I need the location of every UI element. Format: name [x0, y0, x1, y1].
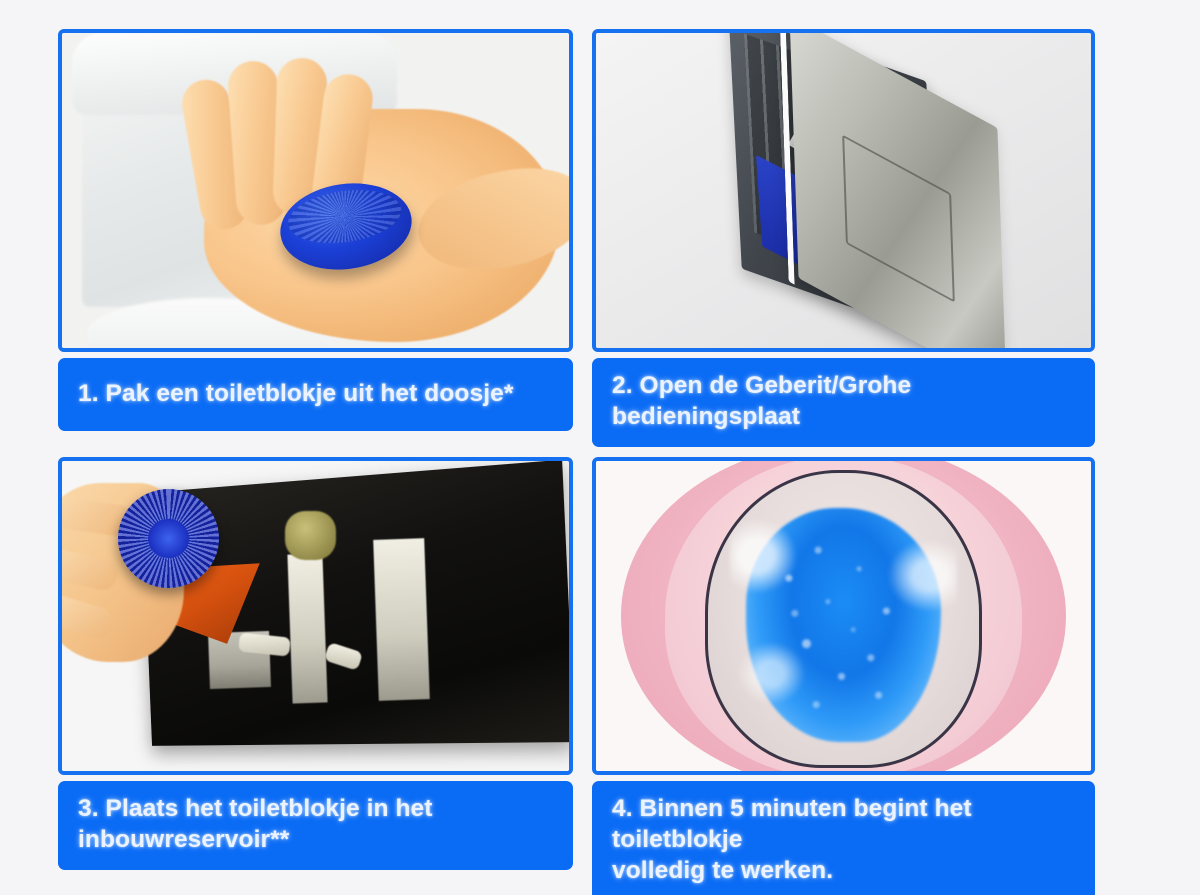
step-card-3[interactable]: 3. Plaats het toiletblokje in het inbouw… — [58, 457, 573, 855]
brass-valve-shape — [285, 511, 336, 561]
step-4-caption: 4. Binnen 5 minuten begint het toiletblo… — [592, 781, 1095, 895]
blue-toilet-block-shape — [118, 489, 219, 588]
step-card-1[interactable]: 1. Pak een toiletblokje uit het doosje* — [58, 29, 573, 431]
step-3-caption-line-2: inbouwreservoir** — [78, 825, 433, 856]
step-1-caption-text: 1. Pak een toiletblokje uit het doosje* — [78, 379, 513, 410]
cistern-internal-part-shape — [374, 538, 430, 701]
instruction-infographic: 1. Pak een toiletblokje uit het doosje* — [0, 0, 1200, 895]
cistern-internal-part-shape — [288, 553, 329, 703]
opened-flush-plate-image — [596, 33, 1091, 348]
step-3-caption-line-1: 3. Plaats het toiletblokje in het — [78, 794, 433, 825]
step-1-caption: 1. Pak een toiletblokje uit het doosje* — [58, 358, 573, 431]
inserting-block-into-cistern-image — [62, 461, 569, 771]
step-2-caption: 2. Open de Geberit/Grohe bedieningsplaat — [592, 358, 1095, 447]
step-1-photo-frame — [58, 29, 573, 352]
step-2-caption-line-2: bedieningsplaat — [612, 402, 911, 433]
step-2-photo-frame — [592, 29, 1095, 352]
step-2-caption-line-1: 2. Open de Geberit/Grohe — [612, 371, 911, 402]
water-splash-shape — [730, 502, 958, 747]
step-card-4[interactable]: 4. Binnen 5 minuten begint het toiletblo… — [592, 457, 1095, 855]
step-3-caption-text: 3. Plaats het toiletblokje in het inbouw… — [78, 794, 433, 856]
steps-grid: 1. Pak een toiletblokje uit het doosje* — [58, 29, 1095, 857]
step-3-caption: 3. Plaats het toiletblokje in het inbouw… — [58, 781, 573, 870]
step-4-caption-line-2: volledig te werken. — [612, 856, 1079, 887]
step-4-photo-frame — [592, 457, 1095, 775]
step-3-photo-frame — [58, 457, 573, 775]
toilet-bowl-interior-shape — [705, 470, 982, 768]
step-4-caption-text: 4. Binnen 5 minuten begint het toiletblo… — [612, 794, 1079, 887]
step-2-caption-text: 2. Open de Geberit/Grohe bedieningsplaat — [612, 371, 911, 433]
step-card-2[interactable]: 2. Open de Geberit/Grohe bedieningsplaat — [592, 29, 1095, 431]
toilet-bowl-blue-water-image — [596, 461, 1091, 771]
hand-holding-blue-toilet-block-image — [62, 33, 569, 348]
step-4-caption-line-1: 4. Binnen 5 minuten begint het toiletblo… — [612, 794, 1079, 856]
